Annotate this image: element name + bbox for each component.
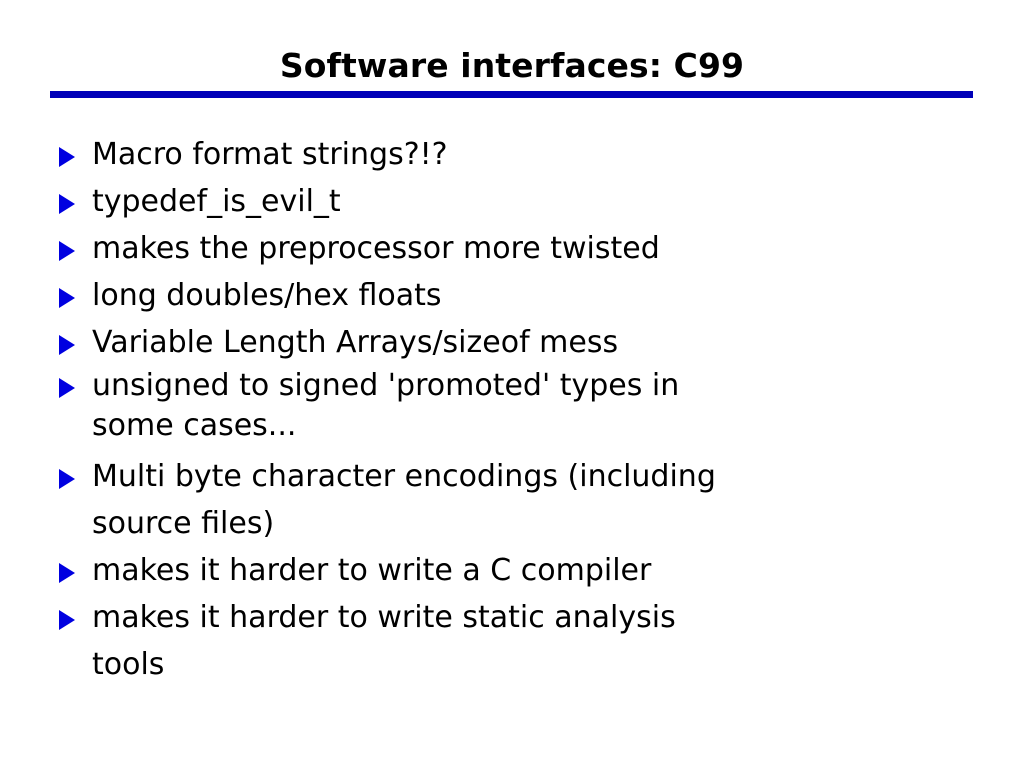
list-item: makes it harder to write static analysis…: [54, 594, 954, 688]
triangle-right-icon: [59, 335, 75, 355]
triangle-right-icon: [59, 194, 75, 214]
list-item-label: typedef_is_evil_t: [92, 178, 954, 225]
page-title: Software interfaces: C99: [0, 46, 1024, 86]
list-item-label: makes the preprocessor more twisted: [92, 225, 954, 272]
list-item: unsigned to signed 'promoted' types in s…: [54, 366, 954, 446]
list-item-label: makes it harder to write a C compiler: [92, 547, 954, 594]
list-item: Macro format strings?!?: [54, 131, 954, 178]
triangle-right-icon: [59, 241, 75, 261]
bullet-list: Macro format strings?!?typedef_is_evil_t…: [54, 131, 954, 688]
triangle-right-icon: [59, 147, 75, 167]
triangle-right-icon: [59, 563, 75, 583]
title-divider-rule: [50, 91, 973, 98]
list-item-label: Multi byte character encodings (includin…: [92, 453, 954, 547]
slide-canvas: Software interfaces: C99 Macro format st…: [0, 0, 1024, 768]
list-item: makes the preprocessor more twisted: [54, 225, 954, 272]
list-item-label: unsigned to signed 'promoted' types in s…: [92, 366, 954, 446]
list-item-label: Variable Length Arrays/sizeof mess: [92, 319, 954, 366]
list-item: long doubles/hex floats: [54, 272, 954, 319]
list-item-label: long doubles/hex floats: [92, 272, 954, 319]
triangle-right-icon: [59, 610, 75, 630]
list-item: typedef_is_evil_t: [54, 178, 954, 225]
triangle-right-icon: [59, 378, 75, 398]
list-item-label: Macro format strings?!?: [92, 131, 954, 178]
list-item: Multi byte character encodings (includin…: [54, 453, 954, 547]
triangle-right-icon: [59, 469, 75, 489]
list-item: makes it harder to write a C compiler: [54, 547, 954, 594]
triangle-right-icon: [59, 288, 75, 308]
list-item: Variable Length Arrays/sizeof mess: [54, 319, 954, 366]
slide-title-block: Software interfaces: C99: [0, 46, 1024, 86]
list-item-label: makes it harder to write static analysis…: [92, 594, 954, 688]
